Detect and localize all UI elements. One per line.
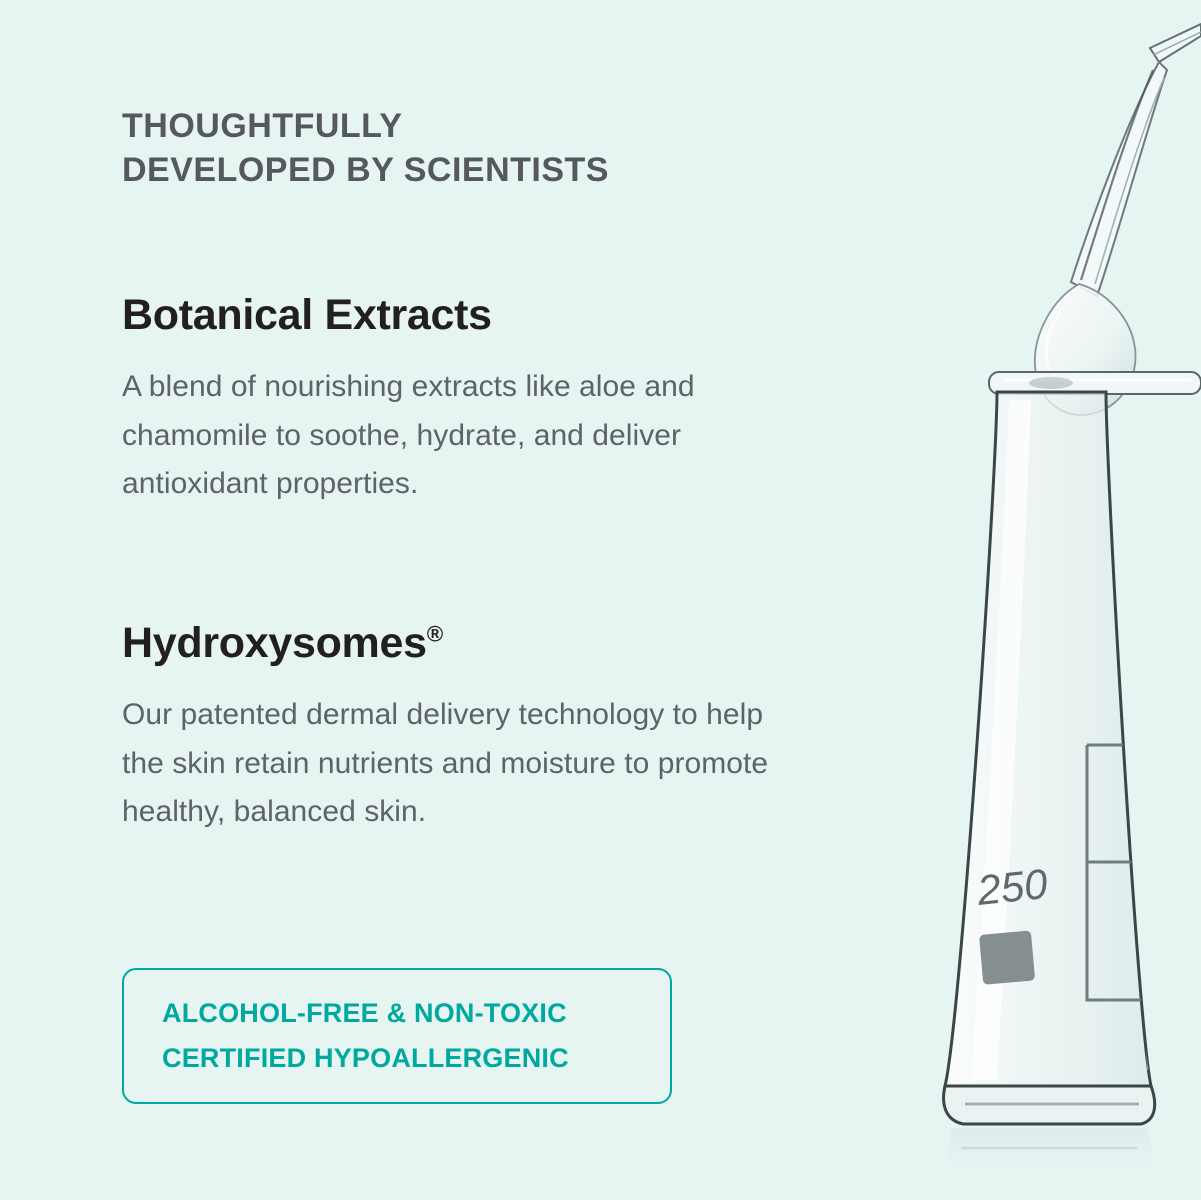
claim-line-alcohol-free: ALCOHOL-FREE & NON-TOXIC <box>162 991 670 1036</box>
eyebrow-heading: THOUGHTFULLY DEVELOPED BY SCIENTISTS <box>122 104 609 192</box>
claim-line-hypoallergenic: CERTIFIED HYPOALLERGENIC <box>162 1036 670 1081</box>
claims-badge: ALCOHOL-FREE & NON-TOXIC CERTIFIED HYPOA… <box>122 968 672 1104</box>
feature-body: A blend of nourishing extracts like aloe… <box>122 363 922 509</box>
feature-heading-text: Botanical Extracts <box>122 291 492 339</box>
feature-heading: Hydroxysomes® <box>122 620 1012 667</box>
label-outline <box>1087 745 1201 1000</box>
registered-mark-icon: ® <box>427 622 443 647</box>
feature-heading-text: Hydroxysomes <box>122 619 427 667</box>
feature-botanical-extracts: Botanical Extracts A blend of nourishing… <box>122 292 922 509</box>
pipette-icon <box>1035 24 1201 415</box>
feature-hydroxysomes: Hydroxysomes® Our patented dermal delive… <box>122 620 1012 837</box>
product-science-panel: 250 THOUGHTFULLY DEVELOPED BY SCIENTI <box>0 0 1201 1200</box>
feature-body: Our patented dermal delivery technology … <box>122 691 1012 837</box>
feature-heading: Botanical Extracts <box>122 292 922 339</box>
